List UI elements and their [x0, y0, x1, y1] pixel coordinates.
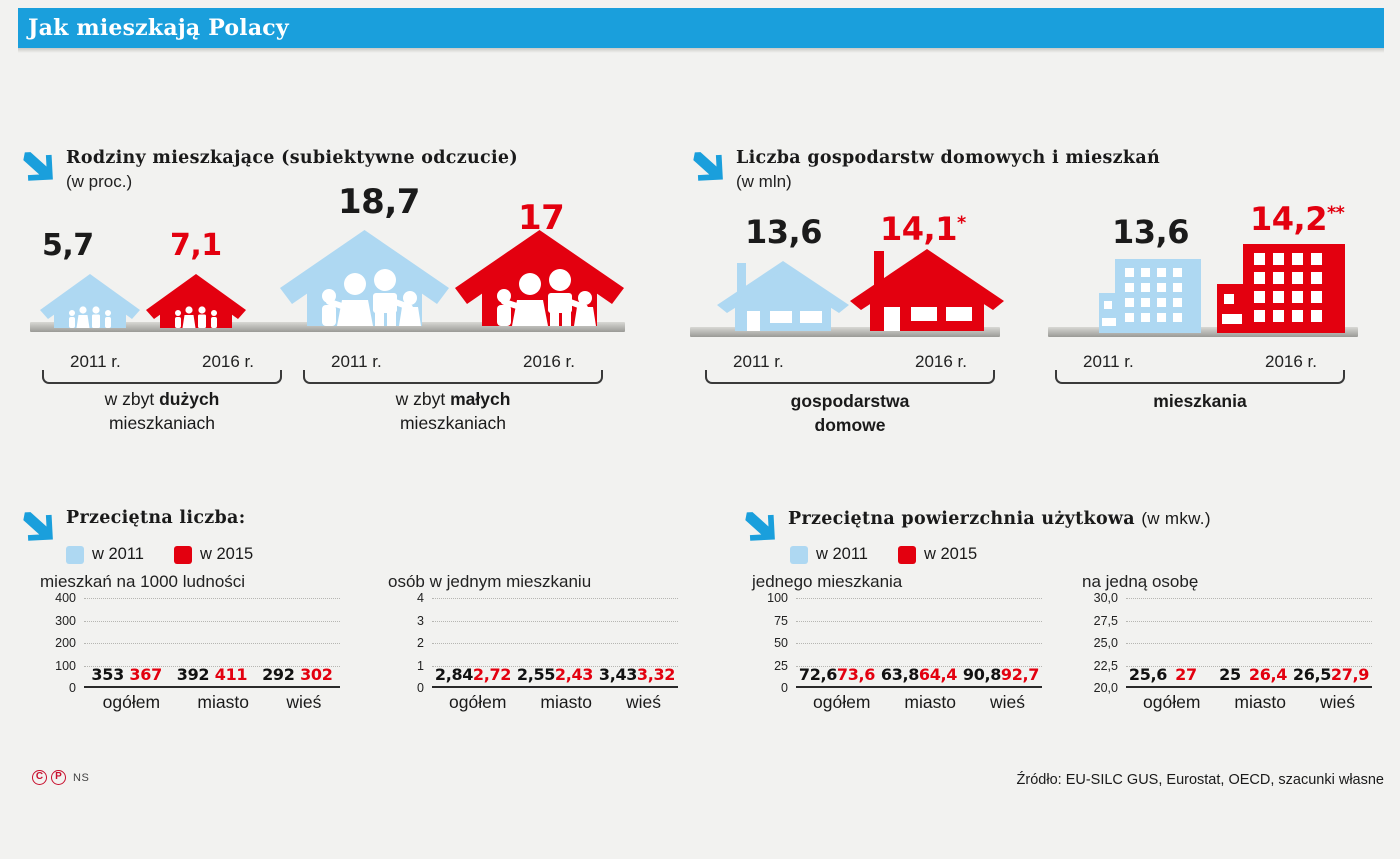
- bar-value-label: 2,84: [435, 665, 473, 684]
- plot-area: 4 3 2 1 0 2,842,72 2,552,43 3,433,32 ogó…: [388, 598, 678, 688]
- bar-value-label: 90,8: [963, 665, 1001, 684]
- value-households-2016: 14,1*: [880, 210, 966, 248]
- page-title: Jak mieszkają Polacy: [18, 15, 289, 41]
- x-axis-labels: ogółem miasto wieś: [1126, 692, 1372, 713]
- y-tick: 30,0: [1094, 591, 1118, 605]
- caption-gospodarstwa: gospodarstwa domowe: [705, 390, 995, 437]
- house-icon-big-red: [452, 228, 627, 328]
- legend-label-2011: w 2011: [92, 545, 144, 564]
- bar-value-label: 3,43: [599, 665, 637, 684]
- plot-area: 400 300 200 100 0 353367 392411 292302 o…: [40, 598, 340, 688]
- bar-value-label: 25,6: [1129, 665, 1167, 684]
- caption-line1: gospodarstwa: [791, 391, 910, 411]
- caption-families-male: w zbyt małych mieszkaniach: [303, 388, 603, 435]
- page-header-bar: Jak mieszkają Polacy: [18, 8, 1384, 48]
- caption-mieszkania: mieszkania: [1055, 390, 1345, 414]
- bar-value-label: 26,4: [1249, 665, 1287, 684]
- legend-item-2015: w 2015: [898, 545, 977, 564]
- house-icon-detached-red: [848, 245, 1006, 333]
- x-label: ogółem: [813, 692, 870, 713]
- chart-title: osób w jednym mieszkaniu: [388, 572, 678, 592]
- x-label: wieś: [626, 692, 661, 713]
- bar-value-label: 292: [262, 665, 295, 684]
- bars-container: 2,842,72 2,552,43 3,433,32: [432, 598, 678, 686]
- legend-label-2015: w 2015: [924, 545, 977, 564]
- caption-bold: małych: [450, 389, 510, 409]
- bars-container: 72,673,6 63,864,4 90,892,7: [796, 598, 1042, 686]
- year-label-right: 2016 r.: [523, 352, 575, 372]
- copyright-c-icon: C: [32, 770, 47, 785]
- bar-value-label: 92,7: [1001, 665, 1039, 684]
- legend-swatch-blue: [790, 546, 808, 564]
- section-header-average-number: Przeciętna liczba:: [18, 508, 245, 546]
- year-label-left: 2011 r.: [733, 352, 784, 372]
- source-note: Źródło: EU-SILC GUS, Eurostat, OECD, sza…: [1017, 772, 1384, 788]
- value-families-small-2016: 7,1: [170, 228, 222, 263]
- section-title-households: Liczba gospodarstw domowych i mieszkań: [736, 148, 1160, 170]
- bar-value-label: 3,32: [637, 665, 675, 684]
- y-axis: 100 75 50 25 0: [752, 598, 794, 688]
- legend-label-2015: w 2015: [200, 545, 253, 564]
- x-label: miasto: [540, 692, 592, 713]
- bar-value-label: 64,4: [919, 665, 957, 684]
- chart-persons-per-dwelling: osób w jednym mieszkaniu 4 3 2 1 0 2,842…: [388, 572, 678, 688]
- bar-value-label: 73,6: [837, 665, 875, 684]
- year-label-right: 2016 r.: [915, 352, 967, 372]
- y-tick: 100: [55, 659, 76, 673]
- y-tick: 0: [417, 681, 424, 695]
- y-tick: 200: [55, 636, 76, 650]
- y-axis: 400 300 200 100 0: [40, 598, 82, 688]
- x-axis-line: [432, 686, 678, 689]
- value-dwellings-2016: 14,2**: [1250, 200, 1344, 238]
- x-label: miasto: [904, 692, 956, 713]
- y-tick: 300: [55, 614, 76, 628]
- legend-average-number: w 2011 w 2015: [66, 545, 253, 564]
- y-tick: 22,5: [1094, 659, 1118, 673]
- house-icon-big-blue: [277, 228, 452, 328]
- bar-value-label: 2,55: [517, 665, 555, 684]
- x-axis-labels: ogółem miasto wieś: [432, 692, 678, 713]
- arrow-down-right-icon: [18, 508, 56, 546]
- y-tick: 4: [417, 591, 424, 605]
- house-icon-detached-blue: [715, 255, 851, 333]
- year-label-left: 2011 r.: [1083, 352, 1134, 372]
- y-tick: 2: [417, 636, 424, 650]
- y-tick: 0: [69, 681, 76, 695]
- value-families-small-2011: 5,7: [42, 228, 94, 263]
- house-icon-small-blue: [36, 272, 144, 330]
- bracket-line: [1055, 370, 1345, 384]
- copyright-logo: C P NS: [32, 770, 89, 785]
- x-axis-labels: ogółem miasto wieś: [796, 692, 1042, 713]
- chart-title: mieszkań na 1000 ludności: [40, 572, 340, 592]
- bar-value-label: 25: [1219, 665, 1241, 684]
- section-header-households: Liczba gospodarstw domowych i mieszkań (…: [688, 148, 1160, 192]
- chart-title: jednego mieszkania: [752, 572, 1042, 592]
- value-families-big-2011: 18,7: [338, 182, 420, 222]
- caption-prefix: w zbyt: [105, 389, 159, 409]
- legend-swatch-red: [898, 546, 916, 564]
- legend-average-area: w 2011 w 2015: [790, 545, 977, 564]
- bar-value-label: 27,9: [1331, 665, 1369, 684]
- x-axis-labels: ogółem miasto wieś: [84, 692, 340, 713]
- y-tick: 0: [781, 681, 788, 695]
- plot-area: 100 75 50 25 0 72,673,6 63,864,4 90,892,…: [752, 598, 1042, 688]
- x-axis-line: [84, 686, 340, 689]
- value-households-2011: 13,6: [745, 213, 822, 251]
- section-header-families: Rodziny mieszkające (subiektywne odczuci…: [18, 148, 518, 192]
- footnote-marker: *: [957, 213, 966, 233]
- bar-value-label: 367: [129, 665, 162, 684]
- section-unit-families: (w proc.): [66, 172, 518, 192]
- legend-item-2011: w 2011: [66, 545, 144, 564]
- y-tick: 25: [774, 659, 788, 673]
- y-axis: 4 3 2 1 0: [388, 598, 430, 688]
- plot-area: 30,0 27,5 25,0 22,5 20,0 25,627 2526,4 2…: [1082, 598, 1372, 688]
- x-axis-line: [1126, 686, 1372, 689]
- x-label: ogółem: [449, 692, 506, 713]
- year-label-right: 2016 r.: [202, 352, 254, 372]
- bar-value-label: 302: [300, 665, 333, 684]
- x-label: wieś: [286, 692, 321, 713]
- legend-swatch-blue: [66, 546, 84, 564]
- bar-value-label: 72,6: [799, 665, 837, 684]
- x-axis-line: [796, 686, 1042, 689]
- caption-prefix: w zbyt: [396, 389, 450, 409]
- y-tick: 3: [417, 614, 424, 628]
- bar-value-label: 392: [177, 665, 210, 684]
- y-tick: 1: [417, 659, 424, 673]
- header-shadow: [18, 48, 1384, 53]
- x-label: ogółem: [1143, 692, 1200, 713]
- legend-item-2011: w 2011: [790, 545, 868, 564]
- section-unit-households: (w mln): [736, 172, 1160, 192]
- bar-value-label: 2,72: [473, 665, 511, 684]
- logo-text: NS: [73, 772, 89, 784]
- building-icon-blue: [1095, 255, 1205, 333]
- x-label: miasto: [197, 692, 249, 713]
- caption-line2: domowe: [815, 415, 886, 435]
- section-header-average-area: Przeciętna powierzchnia użytkowa (w mkw.…: [740, 508, 1211, 546]
- legend-label-2011: w 2011: [816, 545, 868, 564]
- y-tick: 50: [774, 636, 788, 650]
- y-tick: 400: [55, 591, 76, 605]
- section-title-average-number: Przeciętna liczba:: [66, 508, 245, 530]
- y-tick: 20,0: [1094, 681, 1118, 695]
- caption-line2: mieszkaniach: [42, 412, 282, 436]
- arrow-down-right-icon: [688, 148, 726, 186]
- section-unit-average-area: (w mkw.): [1141, 509, 1210, 528]
- arrow-down-right-icon: [18, 148, 56, 186]
- caption-line2: mieszkaniach: [303, 412, 603, 436]
- caption-families-duze: w zbyt dużych mieszkaniach: [42, 388, 282, 435]
- section-title-average-area: Przeciętna powierzchnia użytkowa (w mkw.…: [788, 508, 1211, 531]
- caption-bold: dużych: [159, 389, 219, 409]
- x-label: wieś: [1320, 692, 1355, 713]
- x-label: ogółem: [103, 692, 160, 713]
- bar-value-label: 353: [91, 665, 124, 684]
- y-axis: 30,0 27,5 25,0 22,5 20,0: [1082, 598, 1124, 688]
- legend-item-2015: w 2015: [174, 545, 253, 564]
- y-tick: 27,5: [1094, 614, 1118, 628]
- footnote-marker: **: [1327, 203, 1344, 223]
- legend-swatch-red: [174, 546, 192, 564]
- x-label: wieś: [990, 692, 1025, 713]
- year-label-right: 2016 r.: [1265, 352, 1317, 372]
- y-tick: 100: [767, 591, 788, 605]
- arrow-down-right-icon: [740, 508, 778, 546]
- year-label-left: 2011 r.: [70, 352, 121, 372]
- building-icon-red: [1215, 240, 1347, 333]
- chart-dwellings-per-1000: mieszkań na 1000 ludności 400 300 200 10…: [40, 572, 340, 688]
- caption-line1: mieszkania: [1153, 391, 1246, 411]
- value-dwellings-2011: 13,6: [1112, 213, 1189, 251]
- house-icon-small-red: [142, 272, 250, 330]
- bar-value-label: 411: [215, 665, 248, 684]
- year-label-left: 2011 r.: [331, 352, 382, 372]
- copyright-p-icon: P: [51, 770, 66, 785]
- bar-value-label: 2,43: [555, 665, 593, 684]
- chart-area-per-person: na jedną osobę 30,0 27,5 25,0 22,5 20,0 …: [1082, 572, 1372, 688]
- bar-value-label: 27: [1175, 665, 1197, 684]
- bar-value-label: 63,8: [881, 665, 919, 684]
- chart-area-per-dwelling: jednego mieszkania 100 75 50 25 0 72,673…: [752, 572, 1042, 688]
- section-title-families: Rodziny mieszkające (subiektywne odczuci…: [66, 148, 518, 170]
- chart-title: na jedną osobę: [1082, 572, 1372, 592]
- bracket-line: [303, 370, 603, 384]
- x-label: miasto: [1234, 692, 1286, 713]
- y-tick: 75: [774, 614, 788, 628]
- bars-container: 25,627 2526,4 26,527,9: [1126, 598, 1372, 686]
- bars-container: 353367 392411 292302: [84, 598, 340, 686]
- bar-value-label: 26,5: [1293, 665, 1331, 684]
- bracket-line: [42, 370, 282, 384]
- y-tick: 25,0: [1094, 636, 1118, 650]
- bracket-line: [705, 370, 995, 384]
